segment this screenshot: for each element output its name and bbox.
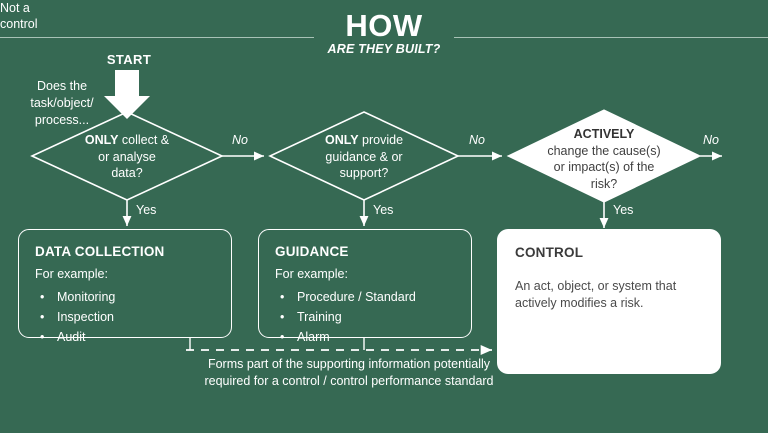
start-label: START: [94, 52, 164, 67]
decision-label-guidance-support: ONLY provide guidance & or support?: [284, 132, 444, 182]
decision-line4-3: risk?: [516, 176, 692, 193]
outcome-list-data-collection: Monitoring Inspection Audit: [35, 287, 215, 347]
decision-line3-1: data?: [47, 165, 207, 182]
edge-label-yes-3: Yes: [613, 203, 633, 217]
decision-line1-rest-2: provide: [359, 133, 403, 147]
decision-line3-3: or impact(s) of the: [516, 159, 692, 176]
list-item: Alarm: [275, 327, 455, 347]
decision-emphasis-2: ONLY: [325, 133, 359, 147]
preface-text: Does the task/object/ process...: [12, 78, 112, 129]
list-item: Audit: [35, 327, 215, 347]
outcome-body-control: An act, object, or system that actively …: [515, 278, 703, 312]
list-item: Inspection: [35, 307, 215, 327]
decision-label-collect-analyse: ONLY collect & or analyse data?: [47, 132, 207, 182]
edge-label-yes-2: Yes: [373, 203, 393, 217]
decision-emphasis-3: ACTIVELY: [574, 127, 635, 141]
flowchart-canvas: HOW ARE THEY BUILT? START Does the task/…: [0, 0, 768, 433]
outcome-subtitle-guidance: For example:: [275, 266, 455, 283]
outcome-box-data-collection[interactable]: DATA COLLECTION For example: Monitoring …: [18, 229, 232, 338]
edge-label-no-1: No: [232, 133, 248, 147]
outcome-title-data-collection: DATA COLLECTION: [35, 244, 215, 259]
outcome-title-guidance: GUIDANCE: [275, 244, 455, 259]
decision-emphasis-1: ONLY: [85, 133, 119, 147]
edge-label-no-2: No: [469, 133, 485, 147]
outcome-subtitle-data-collection: For example:: [35, 266, 215, 283]
edge-label-no-3: No: [703, 133, 719, 147]
decision-label-actively-change: ACTIVELY change the cause(s) or impact(s…: [516, 126, 692, 192]
decision-line2-3: change the cause(s): [516, 143, 692, 160]
list-item: Training: [275, 307, 455, 327]
decision-line3-2: support?: [284, 165, 444, 182]
list-item: Monitoring: [35, 287, 215, 307]
decision-line2-1: or analyse: [47, 149, 207, 166]
decision-line2-2: guidance & or: [284, 149, 444, 166]
outcome-box-control[interactable]: CONTROL An act, object, or system that a…: [497, 229, 721, 374]
outcome-box-guidance[interactable]: GUIDANCE For example: Procedure / Standa…: [258, 229, 472, 338]
outcome-list-guidance: Procedure / Standard Training Alarm: [275, 287, 455, 347]
edge-label-yes-1: Yes: [136, 203, 156, 217]
dashed-connector-note: Forms part of the supporting information…: [199, 356, 499, 390]
outcome-title-control: CONTROL: [515, 245, 703, 260]
list-item: Procedure / Standard: [275, 287, 455, 307]
decision-line1-rest-1: collect &: [118, 133, 169, 147]
